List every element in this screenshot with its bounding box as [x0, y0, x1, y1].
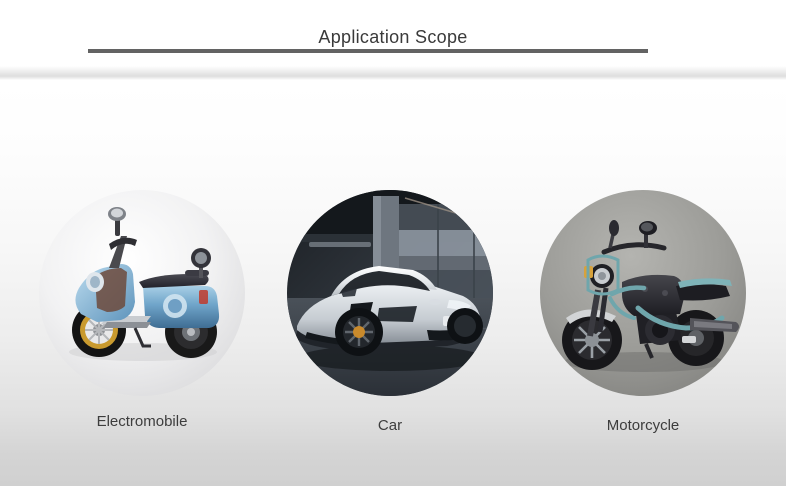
motorcycle-thumbnail[interactable] [540, 190, 746, 396]
application-card-motorcycle[interactable]: Motorcycle [540, 190, 746, 436]
sports-car-photo [287, 190, 493, 396]
card-label-car: Car [287, 416, 493, 436]
electric-scooter-photo [39, 190, 245, 396]
electromobile-thumbnail[interactable] [39, 190, 245, 396]
title-divider-rule [88, 49, 648, 53]
application-card-electromobile[interactable]: Electromobile [39, 190, 245, 432]
car-thumbnail[interactable] [287, 190, 493, 396]
card-label-electromobile: Electromobile [39, 412, 245, 432]
application-scope-page: Application Scope [0, 0, 786, 486]
header-shadow-band [0, 66, 786, 80]
card-label-motorcycle: Motorcycle [540, 416, 746, 436]
application-card-car[interactable]: Car [287, 190, 493, 436]
application-cards-row: Electromobile [0, 190, 786, 450]
page-title: Application Scope [0, 26, 786, 48]
motorcycle-photo [540, 190, 746, 396]
